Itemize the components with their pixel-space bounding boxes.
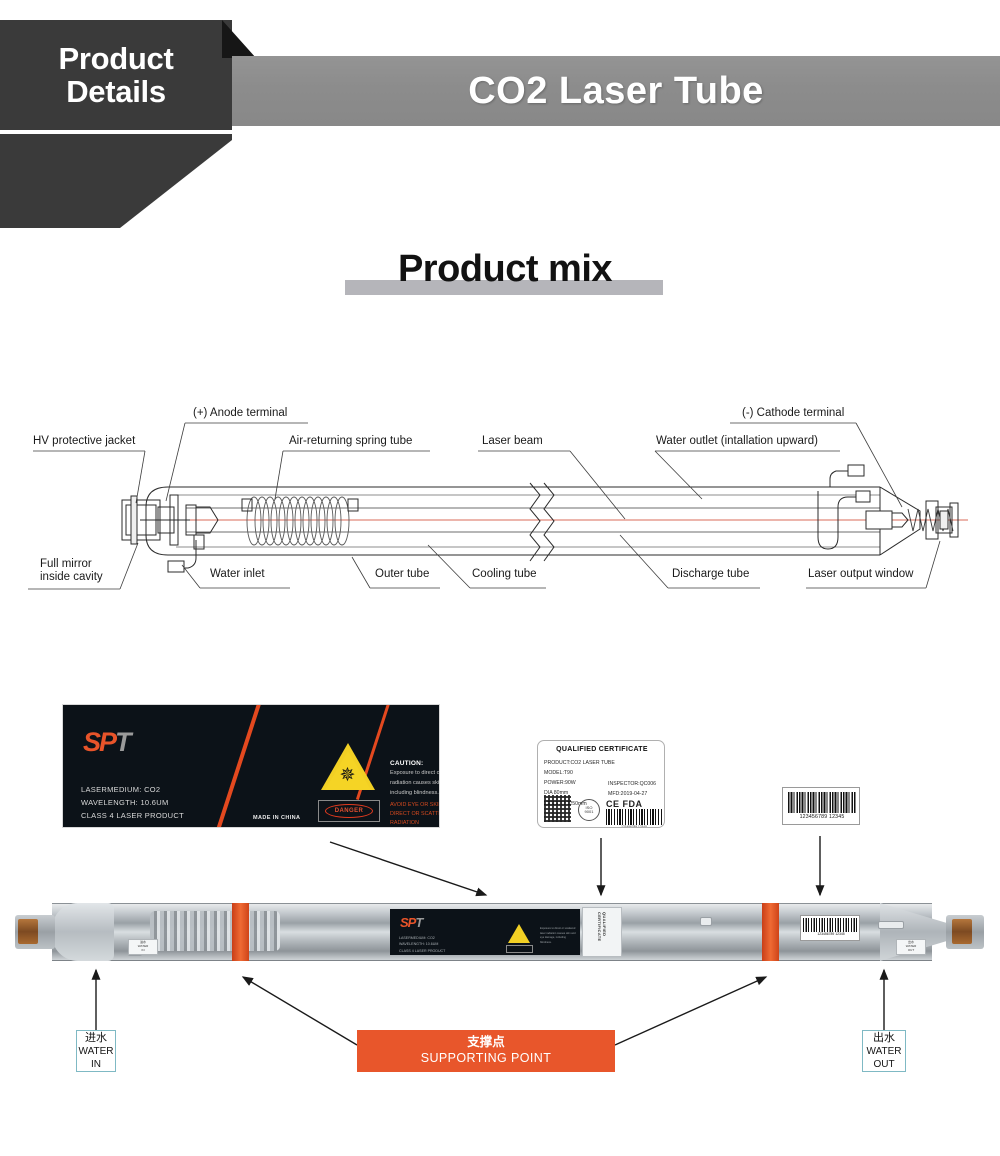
header-title-bar: CO2 Laser Tube (232, 56, 1000, 126)
ribbon-label-line2: Details (66, 75, 166, 108)
water-out-en2: OUT (873, 1058, 894, 1071)
diagram-label-full-mirror: Full mirror inside cavity (40, 558, 103, 584)
tube-spec-class: CLASS 4 LASER PRODUCT (399, 948, 445, 954)
diagram-label-cathode-terminal: (-) Cathode terminal (742, 407, 844, 420)
diagram-label-laser-output-window: Laser output window (808, 568, 913, 581)
support-band-left (232, 903, 249, 961)
outlet-tag-en2: OUT (908, 949, 914, 953)
tube-applied-certificate: QUALIFIED CERTIFICATE (582, 907, 622, 957)
diagram-label-air-returning-spring-tube: Air-returning spring tube (289, 435, 412, 448)
ribbon-label: Product Details (0, 20, 232, 130)
page-header: Product Details CO2 Laser Tube (0, 0, 1000, 230)
diagram-label-water-outlet: Water outlet (intallation upward) (656, 435, 818, 448)
tube-caution-text: Exposure to direct or scattered laser ra… (540, 927, 576, 946)
label-artwork-area: SPT LASERMEDIUM: CO2 WAVELENGTH: 10.6UM … (0, 690, 1000, 865)
full-mirror-line2: inside cavity (40, 571, 103, 584)
technical-diagram: HV protective jacket (+) Anode terminal … (0, 395, 1000, 610)
tube-left-dome (52, 903, 114, 961)
callout-supporting-point: 支撑点 SUPPORTING POINT (357, 1030, 615, 1072)
inlet-tag-en2: IN (142, 949, 145, 953)
callout-water-out: 出水 WATER OUT (862, 1030, 906, 1072)
diagram-label-cooling-tube: Cooling tube (472, 568, 537, 581)
supporting-point-en: SUPPORTING POINT (421, 1051, 552, 1067)
support-band-right (762, 903, 779, 961)
diagram-label-outer-tube: Outer tube (375, 568, 429, 581)
tube-applied-barcode: 123456789 12345 (800, 915, 860, 941)
tube-outlet-pipe (878, 921, 904, 929)
header-title: CO2 Laser Tube (468, 70, 764, 113)
tube-spt-logo: SPT (400, 915, 422, 930)
tube-left-terminal (18, 919, 38, 944)
ribbon-underline (0, 130, 232, 134)
tube-outlet-mini-tag: 出水 WATER OUT (896, 939, 926, 955)
tube-spring-coil (150, 911, 280, 951)
tube-spt-brand: SP (400, 915, 415, 930)
diagram-label-laser-beam: Laser beam (482, 435, 543, 448)
tube-cert-title: QUALIFIED CERTIFICATE (597, 912, 607, 956)
diagram-label-discharge-tube: Discharge tube (672, 568, 749, 581)
callout-row: 进水 WATER IN 出水 WATER OUT 支撑点 SUPPORTING … (0, 975, 1000, 1100)
tube-applied-spt-label: SPT LASERMEDIUM: CO2 WAVELENGTH: 10.6UM … (390, 909, 580, 955)
tube-right-terminal (952, 919, 972, 944)
callout-water-in: 进水 WATER IN (76, 1030, 116, 1072)
tube-water-outlet-port (700, 917, 712, 926)
water-in-cn: 进水 (85, 1031, 107, 1045)
section-title-text: Product mix (340, 243, 670, 295)
tube-danger-badge (506, 945, 533, 953)
water-out-en1: WATER (867, 1045, 902, 1058)
product-photo: 进水 WATER IN 出水 WATER OUT SPT LASERMEDIUM… (0, 895, 1000, 975)
section-title-block: Product mix (340, 243, 670, 305)
water-in-en2: IN (91, 1058, 101, 1071)
tube-spt-specs: LASERMEDIUM: CO2 WAVELENGTH: 10.6UM CLAS… (399, 935, 445, 954)
water-in-en1: WATER (79, 1045, 114, 1058)
diagram-label-hv-protective-jacket: HV protective jacket (33, 435, 135, 448)
water-out-cn: 出水 (873, 1031, 895, 1045)
label-connector-arrows (0, 690, 1000, 920)
tube-spt-tail: T (415, 915, 422, 930)
tube-inlet-mini-tag: 进水 WATER IN (128, 939, 158, 955)
full-mirror-line1: Full mirror (40, 558, 103, 571)
tube-laser-hazard-triangle-icon (508, 924, 530, 943)
ribbon-label-line1: Product (58, 42, 173, 75)
diagram-label-anode-terminal: (+) Anode terminal (193, 407, 287, 420)
supporting-point-cn: 支撑点 (467, 1035, 505, 1051)
diagram-label-water-inlet: Water inlet (210, 568, 265, 581)
tube-barcode-icon (803, 918, 859, 932)
tube-barcode-number: 123456789 12345 (803, 932, 859, 936)
